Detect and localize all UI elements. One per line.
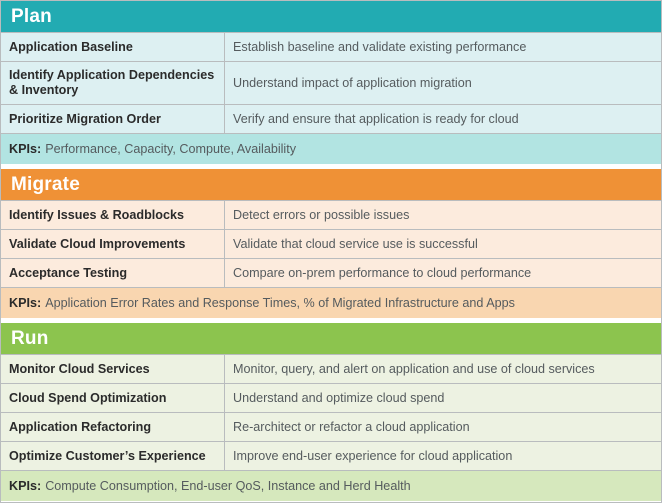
task-description: Monitor, query, and alert on application…	[225, 355, 661, 383]
table-row: Validate Cloud Improvements Validate tha…	[1, 229, 661, 258]
task-description: Understand impact of application migrati…	[225, 62, 661, 104]
phase-header-migrate: Migrate	[1, 169, 661, 200]
task-name: Optimize Customer’s Experience	[1, 442, 225, 470]
kpi-row-migrate: KPIs: Application Error Rates and Respon…	[1, 287, 661, 318]
task-name: Monitor Cloud Services	[1, 355, 225, 383]
table-row: Prioritize Migration Order Verify and en…	[1, 104, 661, 133]
phase-title-plan: Plan	[11, 7, 52, 26]
task-description: Understand and optimize cloud spend	[225, 384, 661, 412]
phase-section-migrate: Migrate Identify Issues & Roadblocks Det…	[1, 169, 661, 318]
table-row: Identify Issues & Roadblocks Detect erro…	[1, 200, 661, 229]
table-row: Cloud Spend Optimization Understand and …	[1, 383, 661, 412]
kpi-label: KPIs:	[9, 478, 41, 494]
kpi-value: Compute Consumption, End-user QoS, Insta…	[45, 478, 410, 494]
task-description: Establish baseline and validate existing…	[225, 33, 661, 61]
phase-section-run: Run Monitor Cloud Services Monitor, quer…	[1, 323, 661, 501]
kpi-label: KPIs:	[9, 295, 41, 311]
kpi-value: Application Error Rates and Response Tim…	[45, 295, 515, 311]
kpi-label: KPIs:	[9, 141, 41, 157]
kpi-value: Performance, Capacity, Compute, Availabi…	[45, 141, 296, 157]
kpi-row-plan: KPIs: Performance, Capacity, Compute, Av…	[1, 133, 661, 164]
task-name: Identify Application Dependencies & Inve…	[1, 62, 225, 104]
task-name: Prioritize Migration Order	[1, 105, 225, 133]
table-row: Monitor Cloud Services Monitor, query, a…	[1, 354, 661, 383]
task-name: Cloud Spend Optimization	[1, 384, 225, 412]
task-description: Validate that cloud service use is succe…	[225, 230, 661, 258]
task-name: Identify Issues & Roadblocks	[1, 201, 225, 229]
table-row: Acceptance Testing Compare on-prem perfo…	[1, 258, 661, 287]
table-row: Application Baseline Establish baseline …	[1, 32, 661, 61]
phase-title-run: Run	[11, 329, 49, 348]
table-row: Optimize Customer’s Experience Improve e…	[1, 441, 661, 470]
kpi-row-run: KPIs: Compute Consumption, End-user QoS,…	[1, 470, 661, 501]
phase-title-migrate: Migrate	[11, 175, 80, 194]
task-name: Validate Cloud Improvements	[1, 230, 225, 258]
task-description: Verify and ensure that application is re…	[225, 105, 661, 133]
task-name: Application Baseline	[1, 33, 225, 61]
phase-header-plan: Plan	[1, 1, 661, 32]
table-row: Identify Application Dependencies & Inve…	[1, 61, 661, 104]
task-description: Compare on-prem performance to cloud per…	[225, 259, 661, 287]
migration-phases-table: Plan Application Baseline Establish base…	[0, 0, 662, 503]
task-name: Application Refactoring	[1, 413, 225, 441]
task-description: Improve end-user experience for cloud ap…	[225, 442, 661, 470]
task-name: Acceptance Testing	[1, 259, 225, 287]
task-description: Re-architect or refactor a cloud applica…	[225, 413, 661, 441]
phase-header-run: Run	[1, 323, 661, 354]
task-description: Detect errors or possible issues	[225, 201, 661, 229]
phase-section-plan: Plan Application Baseline Establish base…	[1, 1, 661, 164]
table-row: Application Refactoring Re-architect or …	[1, 412, 661, 441]
